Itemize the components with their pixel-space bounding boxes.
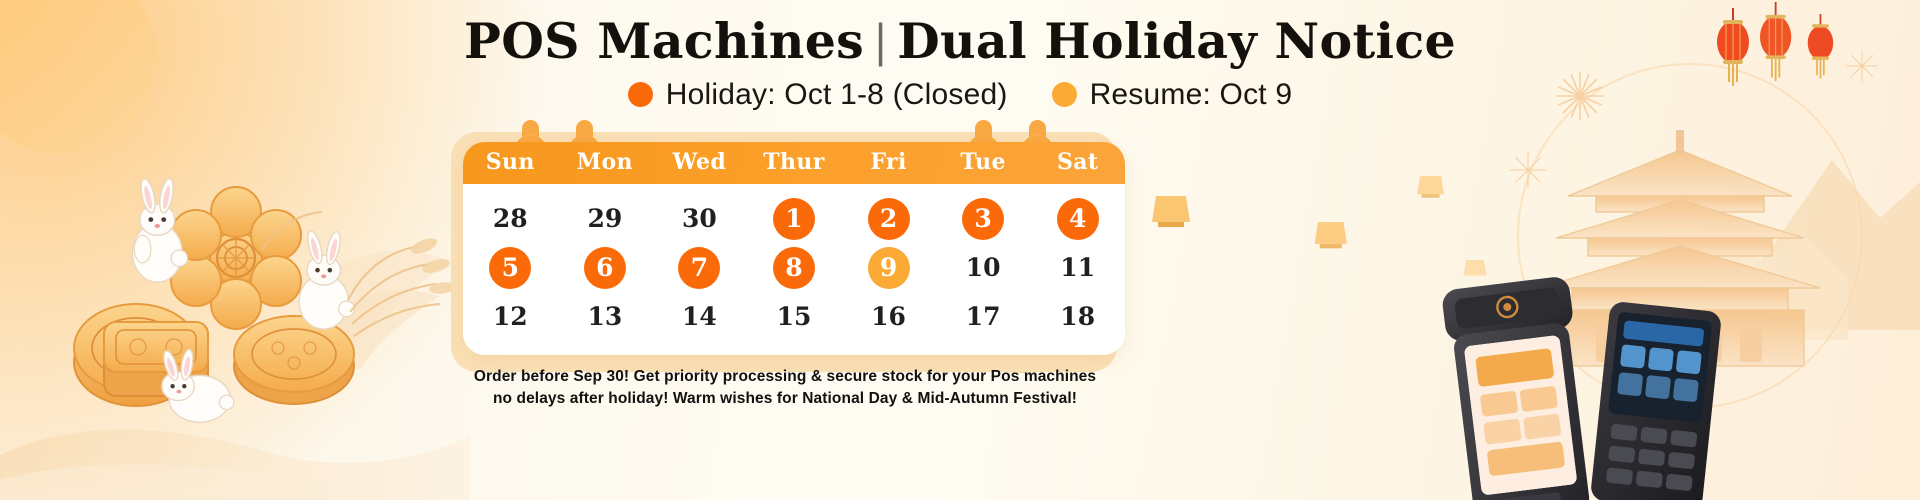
calendar-day-cell[interactable]: 3 xyxy=(936,194,1031,243)
legend: Holiday: Oct 1-8 (Closed) Resume: Oct 9 xyxy=(0,78,1920,112)
pagoda-skyline-illustration xyxy=(1518,64,1920,408)
day-number: 1 xyxy=(773,198,815,240)
calendar-card: Sun Mon Wed Thur Fri Tue Sat 28 29 30 1 … xyxy=(463,142,1125,355)
resume-dot-icon xyxy=(1052,82,1077,107)
day-number: 30 xyxy=(678,198,720,240)
calendar-day-cell[interactable]: 16 xyxy=(841,292,936,341)
legend-item-resume: Resume: Oct 9 xyxy=(1052,78,1293,112)
rabbit-icon xyxy=(132,177,187,282)
day-number: 11 xyxy=(1057,247,1099,289)
day-number: 2 xyxy=(868,198,910,240)
day-number: 14 xyxy=(678,296,720,338)
note-line-1: Order before Sep 30! Get priority proces… xyxy=(380,366,1190,388)
order-reminder-note: Order before Sep 30! Get priority proces… xyxy=(380,366,1190,411)
calendar-day-cell[interactable]: 28 xyxy=(463,194,558,243)
calendar-week-row: 28 29 30 1 2 3 4 xyxy=(463,194,1125,243)
day-number: 10 xyxy=(962,247,1004,289)
calendar-grid: 28 29 30 1 2 3 4 5 6 7 8 9 10 11 xyxy=(463,184,1125,355)
weekday-label: Sun xyxy=(463,149,558,175)
calendar-day-cell[interactable]: 10 xyxy=(936,243,1031,292)
calendar-day-cell[interactable]: 18 xyxy=(1030,292,1125,341)
day-number: 7 xyxy=(678,247,720,289)
note-line-2: no delays after holiday! Warm wishes for… xyxy=(380,388,1190,410)
weekday-label: Tue xyxy=(936,149,1031,175)
weekday-label: Thur xyxy=(747,149,842,175)
day-number: 5 xyxy=(489,247,531,289)
calendar-day-cell[interactable]: 6 xyxy=(558,243,653,292)
day-number: 3 xyxy=(962,198,1004,240)
calendar-day-cell[interactable]: 11 xyxy=(1030,243,1125,292)
calendar-day-cell[interactable]: 29 xyxy=(558,194,653,243)
day-number: 29 xyxy=(584,198,626,240)
calendar-week-row: 12 13 14 15 16 17 18 xyxy=(463,292,1125,341)
weekday-label: Wed xyxy=(652,149,747,175)
day-number: 17 xyxy=(962,296,1004,338)
calendar-day-cell[interactable]: 13 xyxy=(558,292,653,341)
holiday-dot-icon xyxy=(628,82,653,107)
legend-label-holiday: Holiday: Oct 1-8 (Closed) xyxy=(666,78,1008,112)
day-number: 12 xyxy=(489,296,531,338)
day-number: 13 xyxy=(584,296,626,338)
calendar-day-cell[interactable]: 1 xyxy=(747,194,842,243)
calendar-day-cell[interactable]: 30 xyxy=(652,194,747,243)
calendar-day-cell[interactable]: 7 xyxy=(652,243,747,292)
legend-item-holiday: Holiday: Oct 1-8 (Closed) xyxy=(628,78,1008,112)
calendar-day-cell[interactable]: 4 xyxy=(1030,194,1125,243)
day-number: 8 xyxy=(773,247,815,289)
title-main: POS Machines xyxy=(464,12,864,70)
day-number: 28 xyxy=(489,198,531,240)
day-number: 4 xyxy=(1057,198,1099,240)
banner-header: POS Machines|Dual Holiday Notice Holiday… xyxy=(0,0,1920,112)
page-title: POS Machines|Dual Holiday Notice xyxy=(0,14,1920,69)
legend-label-resume: Resume: Oct 9 xyxy=(1090,78,1293,112)
calendar-day-cell[interactable]: 2 xyxy=(841,194,936,243)
day-number: 9 xyxy=(868,247,910,289)
weekday-label: Mon xyxy=(558,149,653,175)
calendar-day-cell[interactable]: 8 xyxy=(747,243,842,292)
rabbit-icon xyxy=(161,349,234,423)
calendar-day-cell[interactable]: 9 xyxy=(841,243,936,292)
calendar-weekday-header: Sun Mon Wed Thur Fri Tue Sat xyxy=(463,142,1125,184)
calendar-day-cell[interactable]: 5 xyxy=(463,243,558,292)
calendar-day-cell[interactable]: 15 xyxy=(747,292,842,341)
title-sub: Dual Holiday Notice xyxy=(897,12,1456,70)
day-number: 16 xyxy=(868,296,910,338)
calendar-day-cell[interactable]: 12 xyxy=(463,292,558,341)
weekday-label: Fri xyxy=(841,149,936,175)
day-number: 15 xyxy=(773,296,815,338)
grass-flourish xyxy=(262,212,440,336)
title-divider: | xyxy=(864,16,897,67)
sky-lanterns-icon xyxy=(1152,176,1486,276)
calendar-week-row: 5 6 7 8 9 10 11 xyxy=(463,243,1125,292)
calendar-day-cell[interactable]: 17 xyxy=(936,292,1031,341)
promo-banner: POS Machines|Dual Holiday Notice Holiday… xyxy=(0,0,1920,500)
weekday-label: Sat xyxy=(1030,149,1125,175)
calendar-day-cell[interactable]: 14 xyxy=(652,292,747,341)
day-number: 18 xyxy=(1057,296,1099,338)
day-number: 6 xyxy=(584,247,626,289)
pos-device-illustration xyxy=(1441,275,1722,500)
rabbit-icon xyxy=(299,230,354,329)
